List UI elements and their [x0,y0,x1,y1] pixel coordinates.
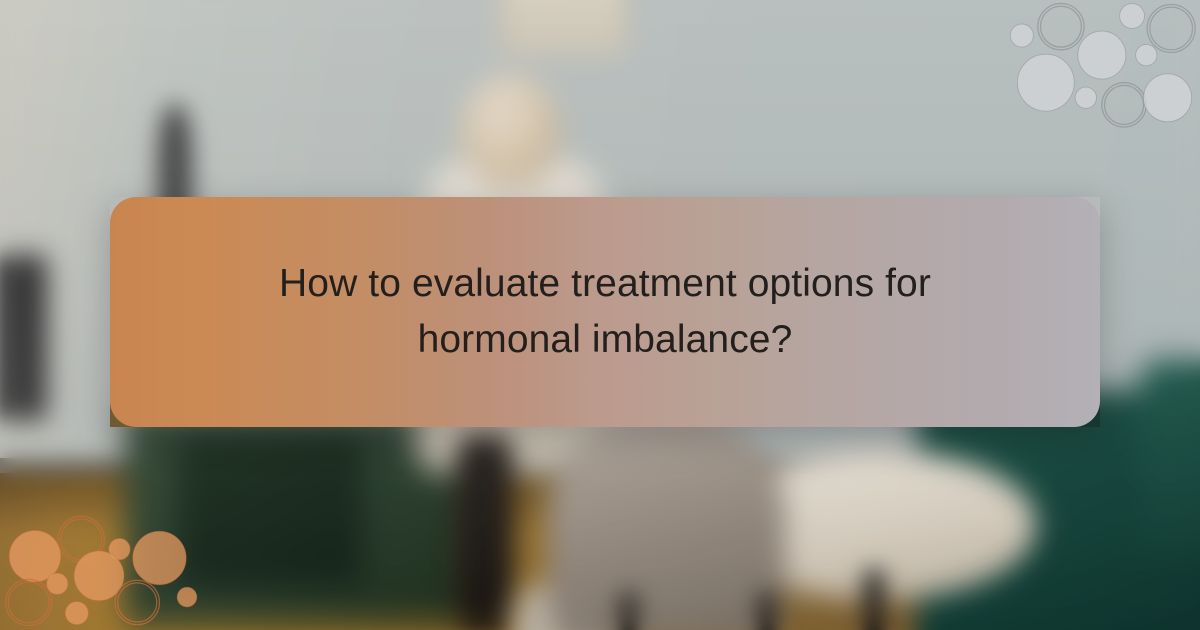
corner-notch-bottom-right [1074,401,1100,427]
question-line-2: hormonal imbalance? [418,318,793,361]
corner-notch-top-left [110,197,136,223]
question-card: How to evaluate treatment options for ho… [110,197,1100,427]
screenshot-stage: How to evaluate treatment options for ho… [0,0,1200,630]
corner-notch-bottom-left [110,401,136,427]
corner-notch-top-right [1074,197,1100,223]
question-text: How to evaluate treatment options for ho… [179,256,1030,368]
question-line-1: How to evaluate treatment options for [279,262,931,305]
